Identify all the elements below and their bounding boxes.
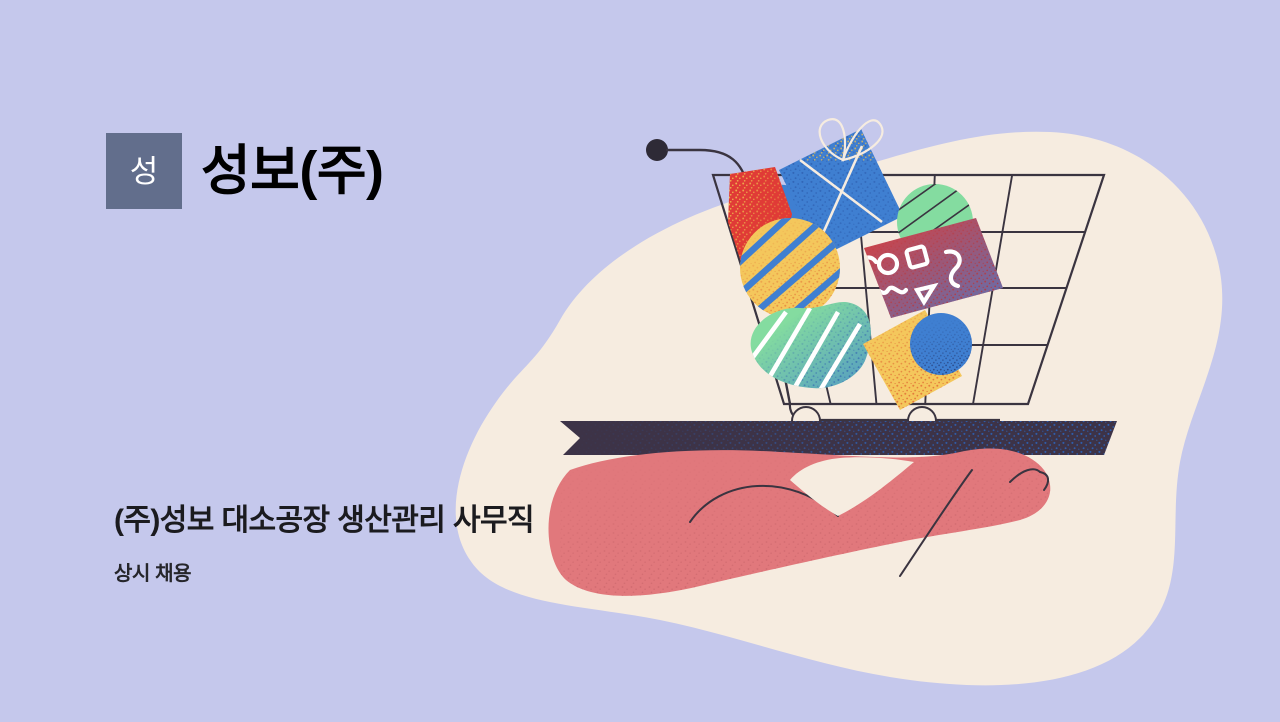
blob-green-striped (751, 302, 871, 388)
hand-finger-lines (690, 469, 1048, 576)
gift-red-decorations (861, 246, 960, 302)
gift-box-blue (779, 129, 903, 257)
cart-basket-grid (700, 170, 1110, 410)
cart-basket-outline (713, 175, 1104, 404)
hand (549, 448, 1051, 595)
job-title: (주)성보 대소공장 생산관리 사무직 (114, 502, 534, 540)
company-header: 성 성보(주) (106, 133, 384, 209)
shape-blue-blob (740, 185, 812, 266)
gift-ribbon (800, 146, 882, 240)
job-posting-card: 성 성보(주) (주)성보 대소공장 생산관리 사무직 상시 채용 (0, 0, 1280, 722)
cart-wheels (792, 407, 936, 435)
gift-bow (820, 119, 883, 160)
circle-yellow-striped (740, 218, 840, 318)
cart-handle-bar (667, 150, 790, 404)
gift-box-yellow (863, 310, 962, 410)
background-blob (456, 132, 1223, 686)
circle-blue-speckled (910, 313, 972, 375)
shopping-cart-illustration (0, 0, 1280, 722)
job-info-block: (주)성보 대소공장 생산관리 사무직 상시 채용 (114, 502, 534, 586)
background (0, 0, 1280, 722)
job-hiring-status: 상시 채용 (114, 562, 534, 586)
gift-box-red (864, 218, 1003, 318)
platform (560, 421, 1117, 455)
company-name: 성보(주) (201, 144, 384, 198)
cart-lower-frame (790, 404, 1000, 420)
shape-red-angular (728, 167, 792, 262)
cart-handle-knob (646, 139, 668, 161)
circle-green-hatched (897, 184, 973, 260)
hand-palm-cutout (790, 457, 914, 516)
company-logo-badge: 성 (106, 133, 182, 209)
